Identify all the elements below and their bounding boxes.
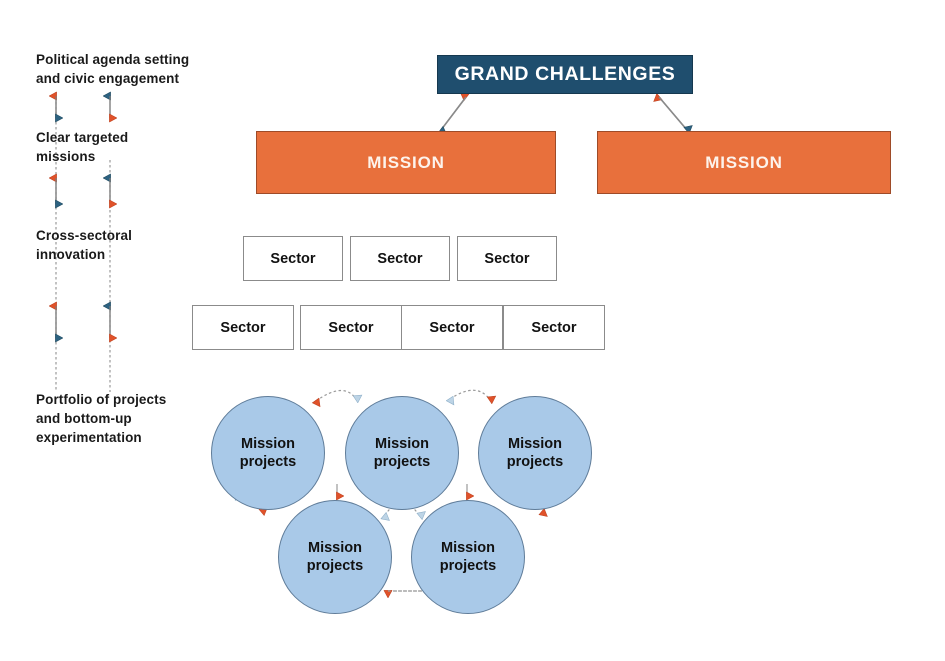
mission-project-circle: Mission projects (411, 500, 525, 614)
sector-box: Sector (457, 236, 557, 281)
arrow-grandchallenge-to-mission-right (659, 97, 687, 130)
mission-box-1: MISSION (256, 131, 556, 194)
sector-box: Sector (300, 305, 402, 350)
arrow-project-1-to-2 (450, 390, 490, 400)
sector-box: Sector (243, 236, 343, 281)
diagram-canvas: Political agenda setting and civic engag… (0, 0, 945, 661)
stage-label-portfolio-of-projects: Portfolio of projects and bottom-up expe… (36, 390, 236, 447)
mission-project-circle: Mission projects (278, 500, 392, 614)
mission-project-circle: Mission projects (345, 396, 459, 510)
stage-label-political-agenda: Political agenda setting and civic engag… (36, 50, 236, 88)
arrow-project-0-to-1 (316, 390, 356, 401)
sector-box: Sector (503, 305, 605, 350)
mission-box-2: MISSION (597, 131, 891, 194)
sector-box: Sector (401, 305, 503, 350)
mission-project-circle: Mission projects (211, 396, 325, 510)
mission-project-circle: Mission projects (478, 396, 592, 510)
arrow-grandchallenge-to-mission-left (441, 97, 466, 130)
grand-challenges-box: GRAND CHALLENGES (437, 55, 693, 94)
sector-box: Sector (350, 236, 450, 281)
stage-label-clear-targeted-missions: Clear targeted missions (36, 128, 236, 166)
sector-box: Sector (192, 305, 294, 350)
stage-label-cross-sectoral-innovation: Cross-sectoral innovation (36, 226, 236, 264)
